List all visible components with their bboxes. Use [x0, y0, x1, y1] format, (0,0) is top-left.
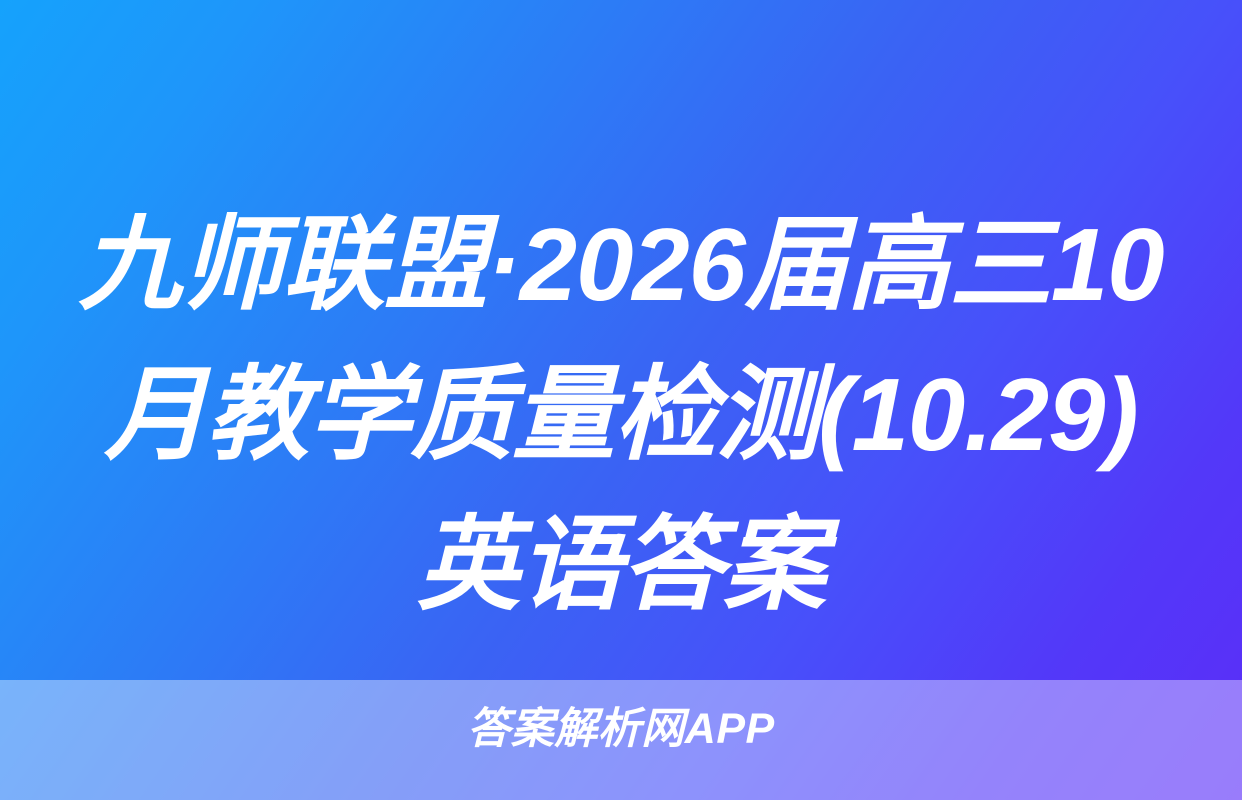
answer-poster: 九师联盟·2026届高三10 月教学质量检测(10.29) 英语答案 答案解析网…: [0, 0, 1242, 800]
headline-line-3: 英语答案: [0, 490, 1242, 640]
headline-line-2: 月教学质量检测(10.29): [0, 340, 1242, 490]
poster-headline: 九师联盟·2026届高三10 月教学质量检测(10.29) 英语答案: [0, 190, 1242, 640]
headline-line-1: 九师联盟·2026届高三10: [0, 190, 1242, 340]
app-watermark: 答案解析网APP: [0, 703, 1242, 755]
